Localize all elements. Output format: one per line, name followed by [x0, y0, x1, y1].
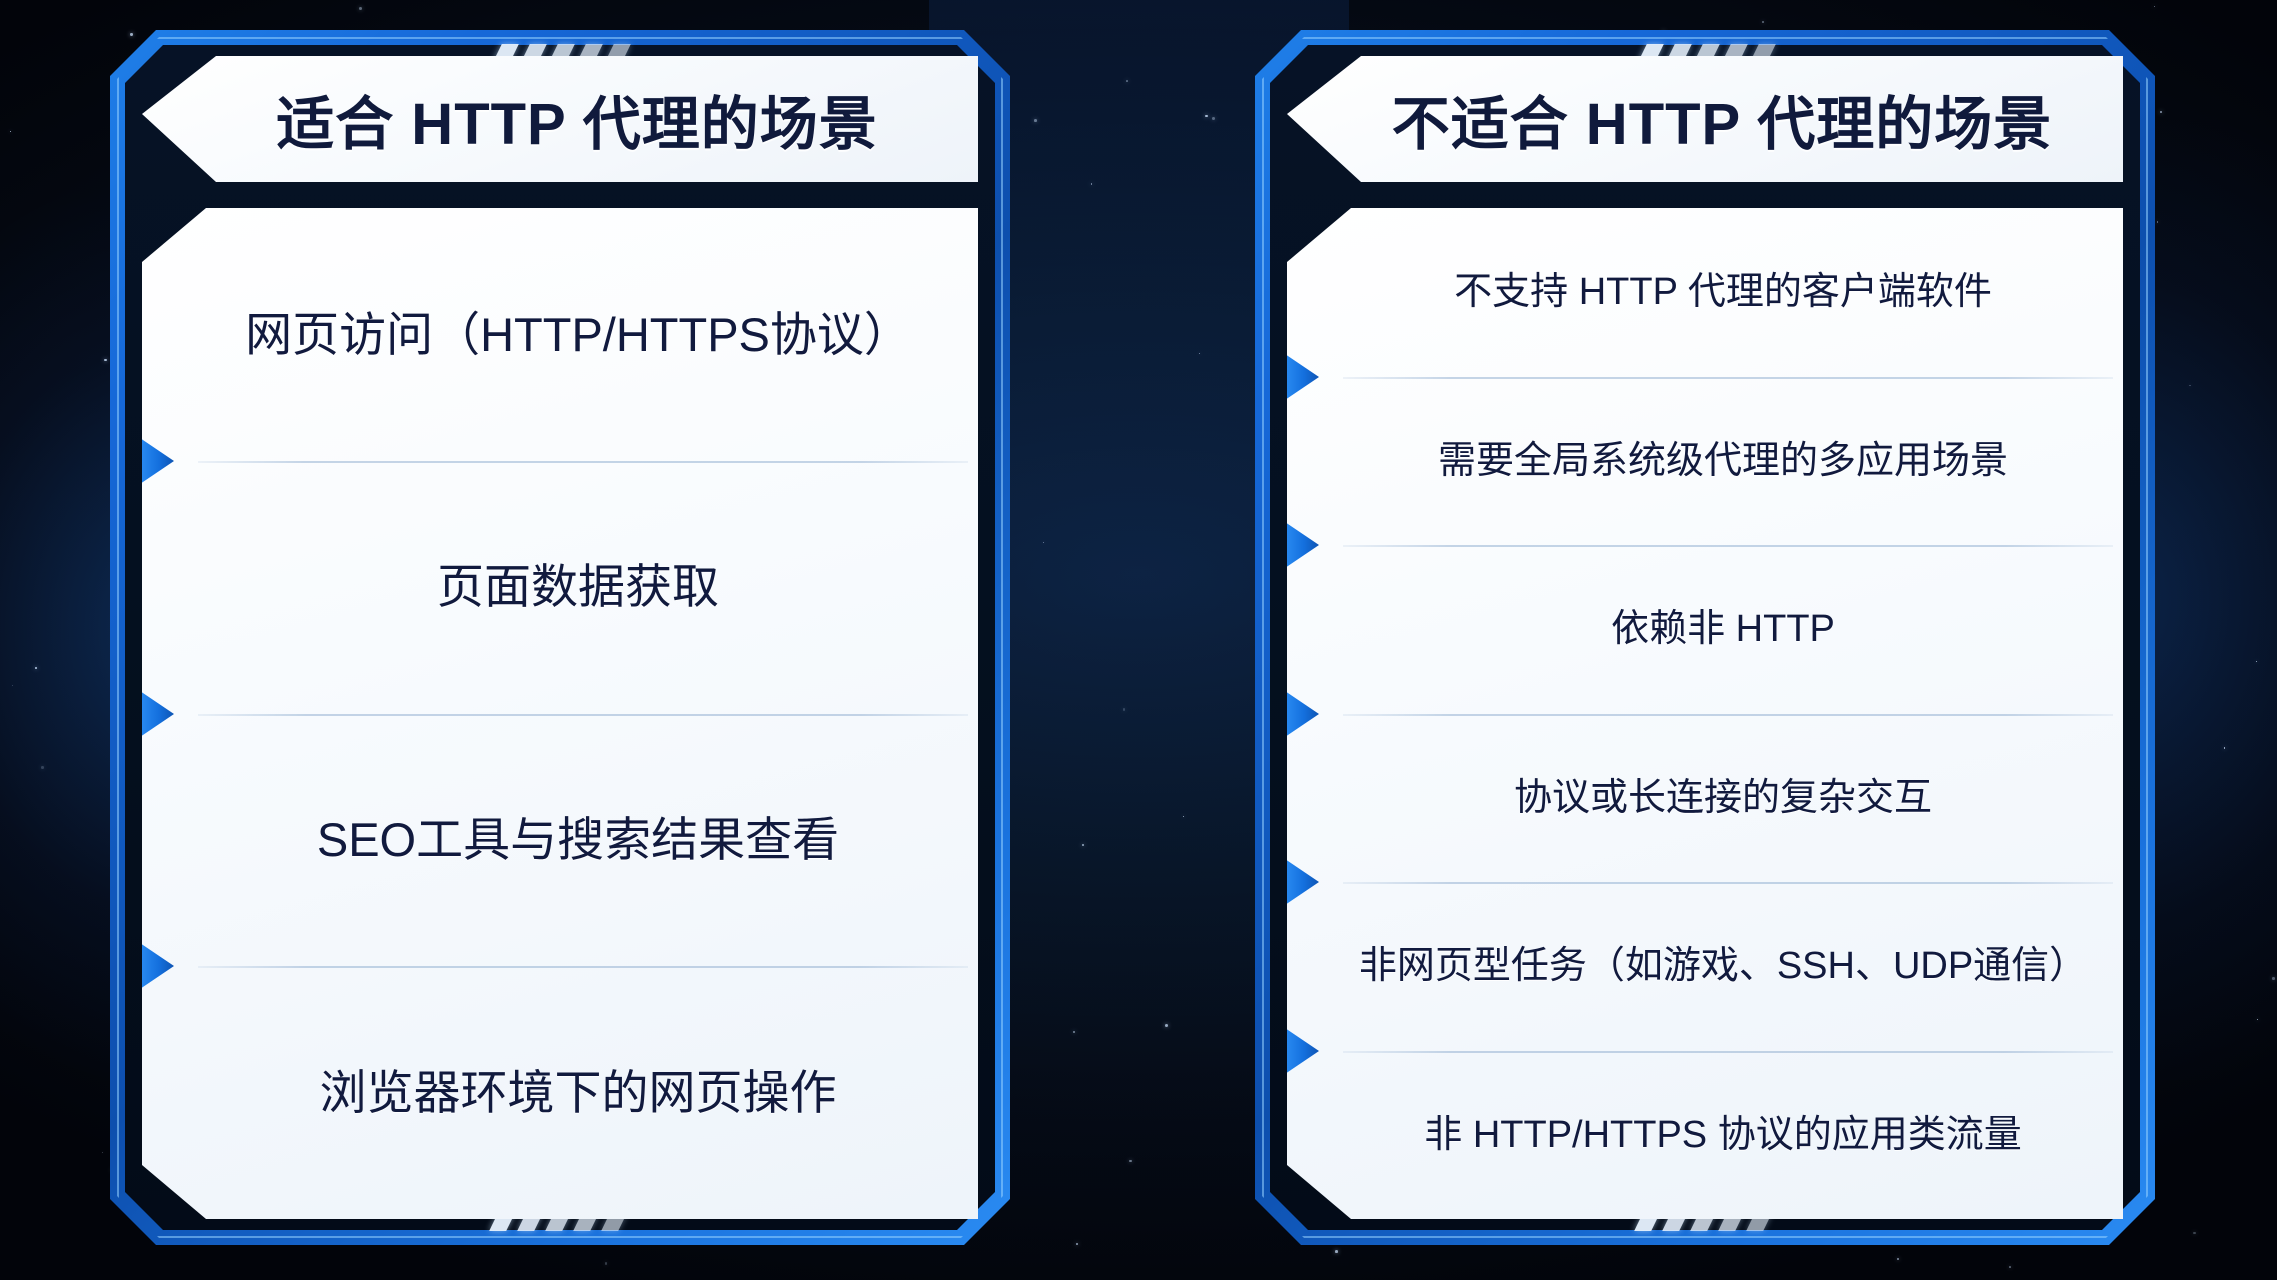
list-item[interactable]: 页面数据获取	[142, 461, 978, 714]
list-item[interactable]: 非网页型任务（如游戏、SSH、UDP通信）	[1287, 882, 2123, 1051]
list-item[interactable]: SEO工具与搜索结果查看	[142, 714, 978, 967]
panel-header-unsuitable: 不适合 HTTP 代理的场景	[1287, 56, 2123, 182]
panel-suitable: 适合 HTTP 代理的场景 网页访问（HTTP/HTTPS协议） 页面数据获取 …	[110, 30, 1010, 1245]
list-item-label: 需要全局系统级代理的多应用场景	[1438, 438, 2008, 484]
scenario-list-suitable: 网页访问（HTTP/HTTPS协议） 页面数据获取 SEO工具与搜索结果查看 浏…	[142, 208, 978, 1219]
panel-content: 适合 HTTP 代理的场景 网页访问（HTTP/HTTPS协议） 页面数据获取 …	[138, 56, 982, 1219]
header-list-divider	[1283, 182, 2127, 208]
list-item-label: SEO工具与搜索结果查看	[317, 811, 839, 868]
list-item-label: 非 HTTP/HTTPS 协议的应用类流量	[1424, 1112, 2021, 1158]
list-item[interactable]: 网页访问（HTTP/HTTPS协议）	[142, 208, 978, 461]
panel-title: 不适合 HTTP 代理的场景	[1358, 77, 2053, 161]
list-item-label: 页面数据获取	[437, 558, 719, 615]
list-item[interactable]: 协议或长连接的复杂交互	[1287, 714, 2123, 883]
list-item-label: 不支持 HTTP 代理的客户端软件	[1454, 269, 1992, 315]
list-item[interactable]: 非 HTTP/HTTPS 协议的应用类流量	[1287, 1051, 2123, 1220]
list-item-label: 网页访问（HTTP/HTTPS协议）	[245, 306, 911, 363]
list-item-label: 非网页型任务（如游戏、SSH、UDP通信）	[1359, 943, 2087, 989]
slide-canvas: 适合 HTTP 代理的场景 网页访问（HTTP/HTTPS协议） 页面数据获取 …	[0, 0, 2277, 1280]
list-item-label: 协议或长连接的复杂交互	[1514, 775, 1932, 821]
list-item[interactable]: 浏览器环境下的网页操作	[142, 966, 978, 1219]
list-item[interactable]: 需要全局系统级代理的多应用场景	[1287, 377, 2123, 546]
list-item-label: 依赖非 HTTP	[1611, 606, 1835, 652]
panel-header-suitable: 适合 HTTP 代理的场景	[142, 56, 978, 182]
panel-content: 不适合 HTTP 代理的场景 不支持 HTTP 代理的客户端软件 需要全局系统级…	[1283, 56, 2127, 1219]
header-list-divider	[138, 182, 982, 208]
scenario-list-unsuitable: 不支持 HTTP 代理的客户端软件 需要全局系统级代理的多应用场景 依赖非 HT…	[1287, 208, 2123, 1219]
list-item[interactable]: 依赖非 HTTP	[1287, 545, 2123, 714]
list-item-label: 浏览器环境下的网页操作	[320, 1064, 837, 1121]
list-item[interactable]: 不支持 HTTP 代理的客户端软件	[1287, 208, 2123, 377]
panel-title: 适合 HTTP 代理的场景	[242, 77, 878, 161]
panel-unsuitable: 不适合 HTTP 代理的场景 不支持 HTTP 代理的客户端软件 需要全局系统级…	[1255, 30, 2155, 1245]
